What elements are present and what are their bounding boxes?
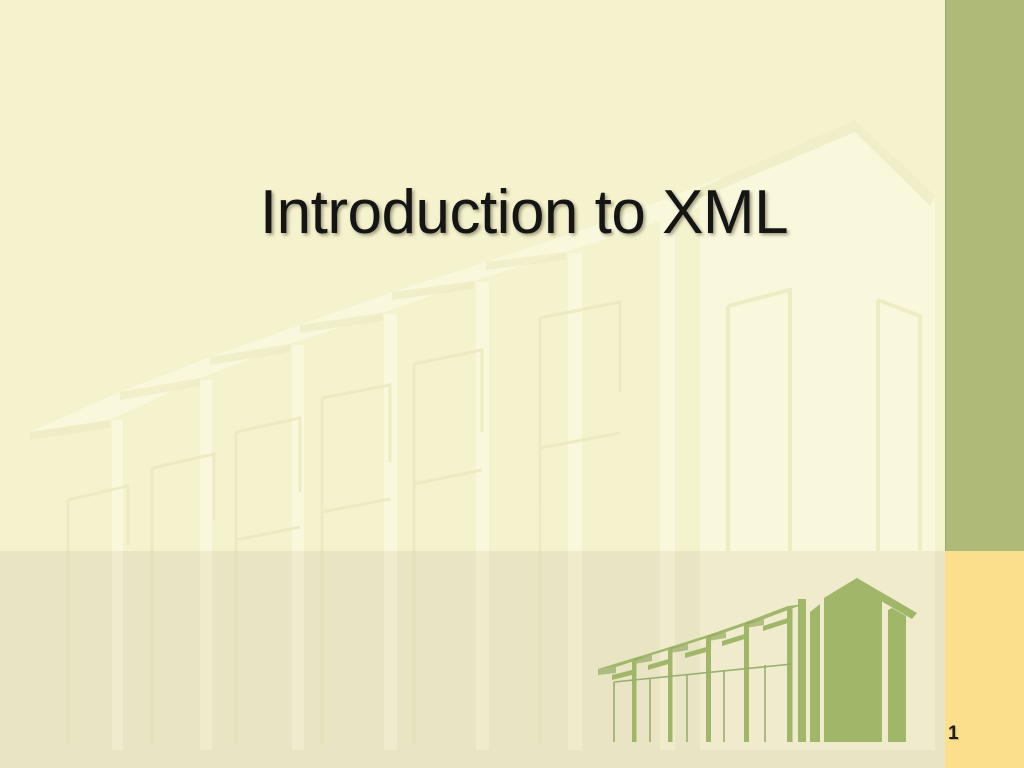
slide-title-container: Introduction to XML [100,178,948,247]
building-colonnade-logo [592,556,932,746]
right-green-band [945,0,1024,551]
slide: Introduction to XML 1 [0,0,1024,768]
slide-number: 1 [948,723,959,745]
page-title: Introduction to XML [260,178,788,247]
background-upper-band [0,0,1024,551]
